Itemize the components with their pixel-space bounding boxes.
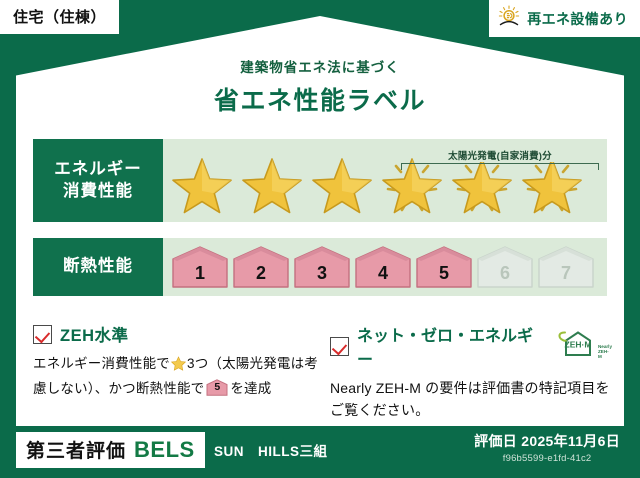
sun-icon: [497, 5, 521, 32]
energy-performance-body: 太陽光発電(自家消費)分: [163, 139, 607, 222]
zeh-checkbox-checked-icon: [33, 325, 52, 344]
insulation-badge-5: 5: [415, 245, 473, 289]
insulation-badge-scale: 1 2 3 4 5 6 7: [163, 245, 595, 289]
star-rating: [163, 153, 587, 215]
zeh-desc-part1: エネルギー消費性能で: [33, 356, 170, 371]
insulation-badge-value: 5: [415, 263, 473, 284]
insulation-badge-value: 4: [354, 263, 412, 284]
zeh-m-logo: ZEH·M Nearly ZEH-M: [554, 330, 612, 363]
title-subtitle: 建築物省エネ法に基づく: [0, 56, 640, 76]
energy-performance-label: エネルギー 消費性能: [33, 139, 163, 222]
inline-house-level: 5: [206, 379, 228, 396]
insulation-performance-row: 断熱性能 1 2 3 4 5: [33, 238, 607, 296]
criteria-nze-header: ネット・ゼロ・エネルギー ZEH·M Nearly ZEH-M: [330, 322, 612, 370]
svg-text:ZEH·M: ZEH·M: [564, 339, 591, 349]
insulation-label-text: 断熱性能: [63, 256, 133, 278]
insulation-performance-label: 断熱性能: [33, 238, 163, 296]
insulation-badge-value: 3: [293, 263, 351, 284]
energy-label-line2: 消費性能: [63, 181, 133, 203]
zeh-desc-part3: を達成: [230, 381, 271, 396]
nze-criteria-description: Nearly ZEH-M の要件は評価書の特記項目をご覧ください。: [330, 377, 612, 422]
insulation-badge-1: 1: [171, 245, 229, 289]
building-name: SUN HILLS三組: [214, 440, 328, 460]
zeh-criteria-description: エネルギー消費性能で3つ（太陽光発電は考慮しない）、かつ断熱性能で5を達成: [33, 353, 323, 400]
bels-en-label: BELS: [134, 437, 195, 463]
evaluation-date-label: 評価日: [474, 433, 517, 449]
label-footer: 第三者評価 BELS SUN HILLS三組 評価日 2025年11月6日 f9…: [0, 426, 640, 478]
inline-star-icon: [171, 356, 186, 378]
zeh-m-house-icon: ZEH·M: [554, 330, 596, 363]
building-type-label: 住宅（住棟）: [13, 9, 106, 26]
energy-performance-row: エネルギー 消費性能: [33, 139, 607, 222]
evaluation-date: 評価日 2025年11月6日: [474, 431, 620, 451]
energy-label-card: 住宅（住棟） 再エネ設備あり 建築物省エネ法に基づく: [0, 0, 640, 478]
energy-label-line1: エネルギー: [54, 159, 142, 181]
insulation-badge-6: 6: [476, 245, 534, 289]
insulation-badge-2: 2: [232, 245, 290, 289]
nze-checkbox-checked-icon: [330, 337, 349, 356]
insulation-performance-body: 1 2 3 4 5 6 7: [163, 238, 607, 296]
title-main: 省エネ性能ラベル: [0, 81, 640, 117]
zeh-m-sub-line2: ZEH-M: [598, 349, 609, 359]
label-title-block: 建築物省エネ法に基づく 省エネ性能ラベル: [0, 56, 640, 117]
evaluation-date-value: 2025年11月6日: [521, 433, 620, 449]
inline-house-badge: 5: [206, 379, 228, 396]
bels-ja-label: 第三者評価: [26, 436, 126, 463]
insulation-badge-value: 2: [232, 263, 290, 284]
star-6: [517, 153, 587, 215]
star-2: [237, 153, 307, 215]
insulation-badge-4: 4: [354, 245, 412, 289]
building-type-tag: 住宅（住棟）: [0, 0, 119, 34]
renewable-equipment-badge: 再エネ設備あり: [489, 0, 640, 37]
criteria-zeh-standard: ZEH水準 エネルギー消費性能で3つ（太陽光発電は考慮しない）、かつ断熱性能で5…: [33, 322, 323, 400]
insulation-badge-value: 1: [171, 263, 229, 284]
evaluation-id: f96b5599-e1fd-41c2: [474, 453, 620, 464]
renewable-badge-label: 再エネ設備あり: [527, 9, 628, 29]
zeh-m-logo-sublabel: Nearly ZEH-M: [598, 344, 612, 363]
nze-criteria-title: ネット・ゼロ・エネルギー: [357, 322, 541, 370]
star-3: [307, 153, 377, 215]
criteria-net-zero-energy: ネット・ゼロ・エネルギー ZEH·M Nearly ZEH-M Nearly Z…: [330, 322, 612, 422]
insulation-badge-3: 3: [293, 245, 351, 289]
insulation-badge-value: 6: [476, 263, 534, 284]
zeh-m-sub-line1: Nearly: [598, 344, 612, 349]
star-4: [377, 153, 447, 215]
insulation-badge-value: 7: [537, 263, 595, 284]
insulation-badge-7: 7: [537, 245, 595, 289]
evaluation-info: 評価日 2025年11月6日 f96b5599-e1fd-41c2: [474, 431, 620, 464]
star-5: [447, 153, 517, 215]
bels-tag: 第三者評価 BELS: [16, 432, 205, 468]
criteria-zeh-header: ZEH水準: [33, 322, 323, 346]
star-1: [167, 153, 237, 215]
zeh-criteria-title: ZEH水準: [60, 322, 129, 346]
